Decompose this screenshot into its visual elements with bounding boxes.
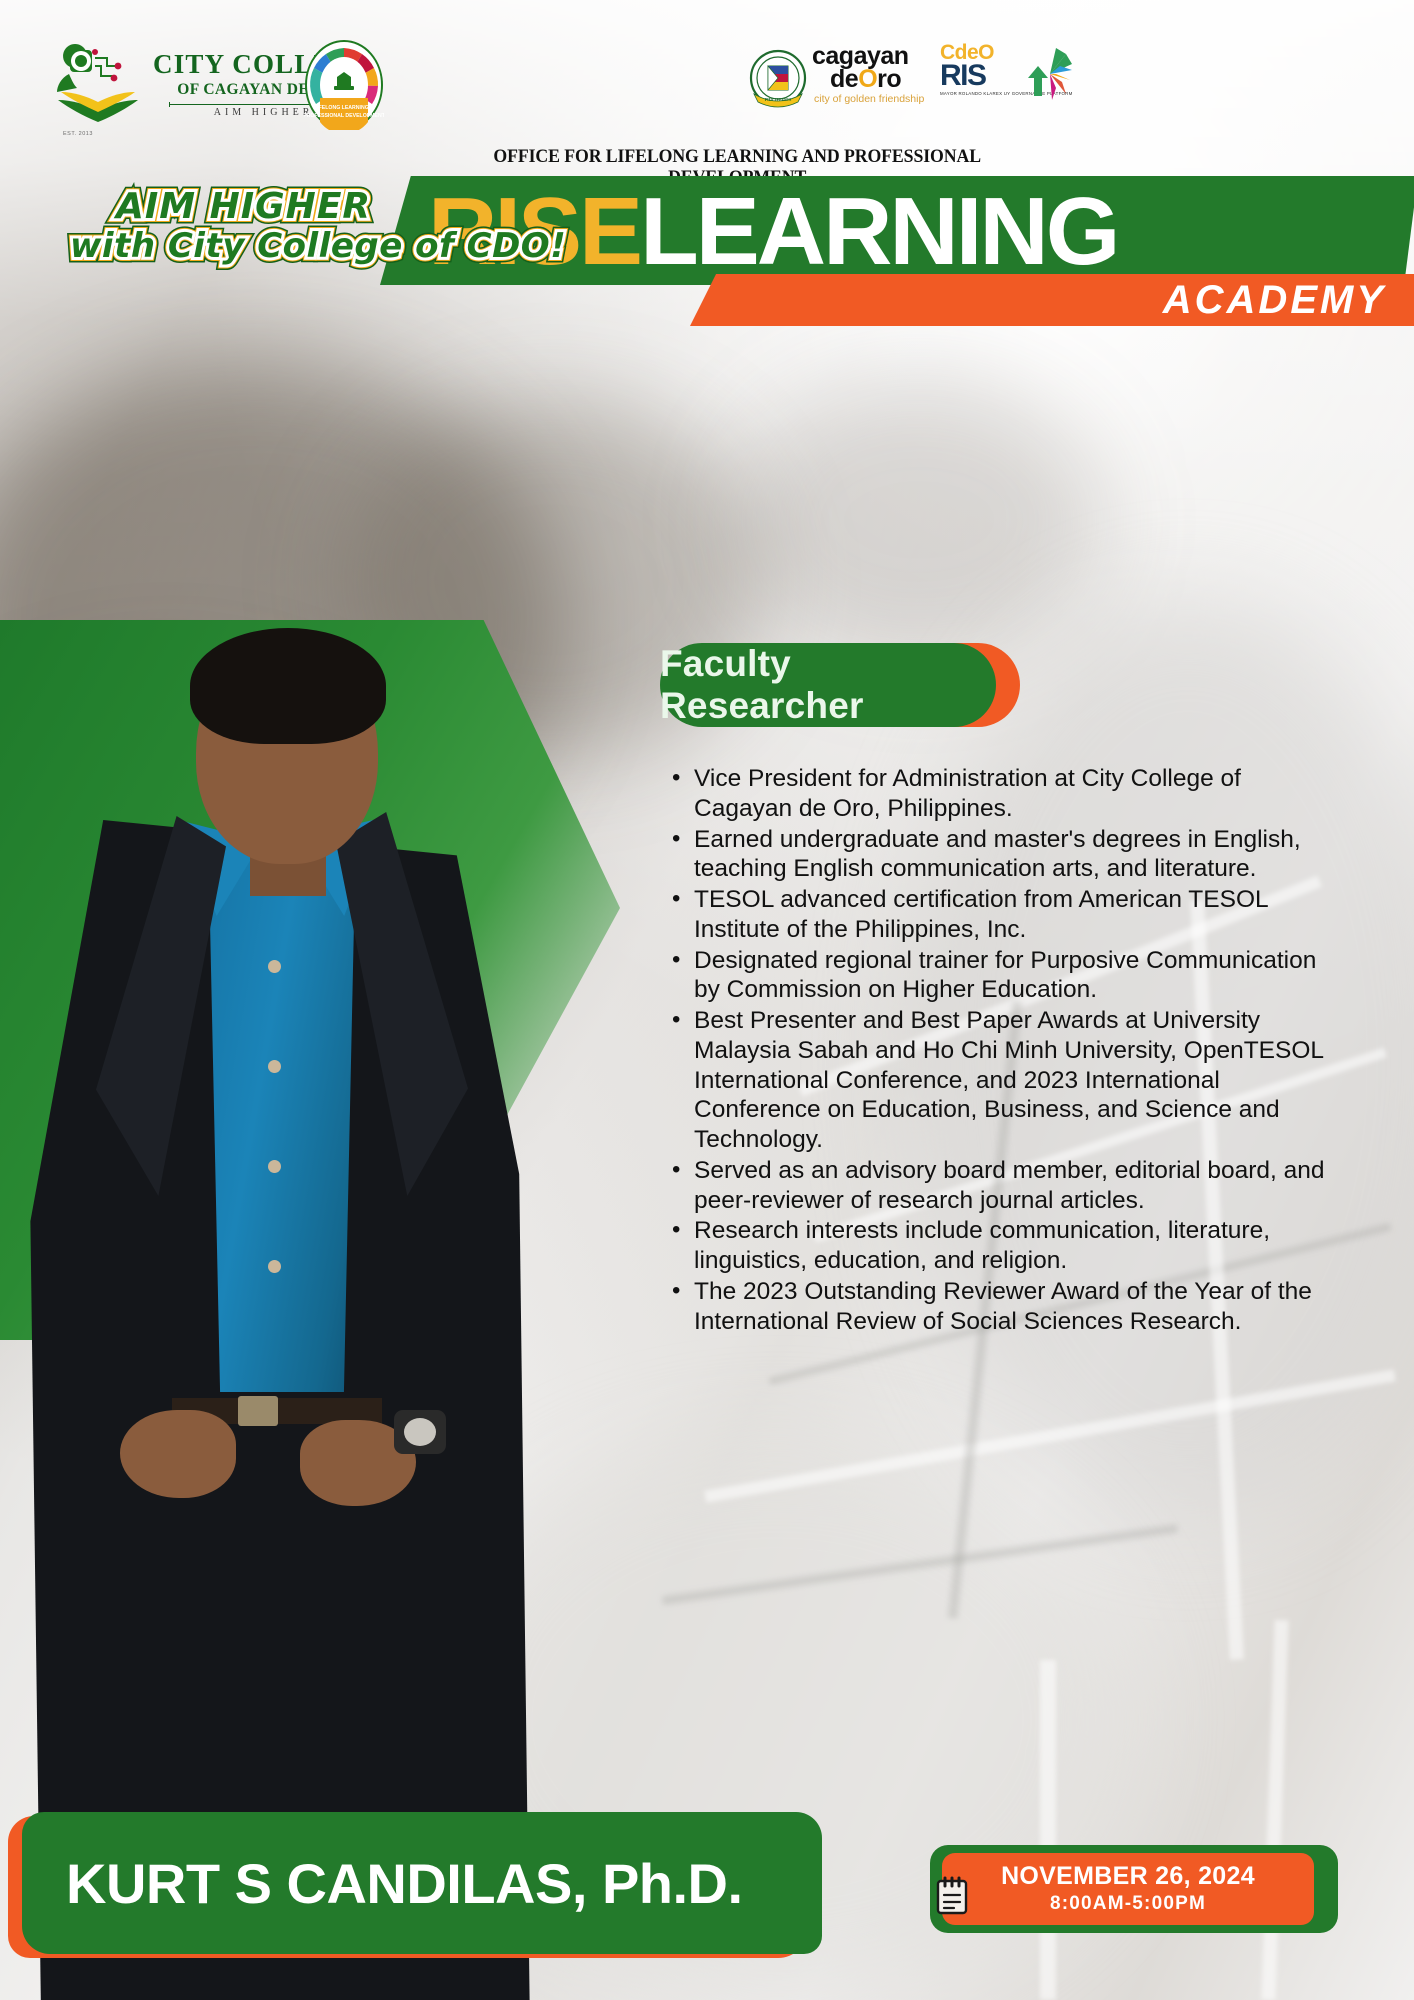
portrait-hand-left — [120, 1410, 236, 1498]
aim-higher-line1: AIM HIGHER — [116, 186, 371, 227]
list-item: Research interests include communication… — [664, 1216, 1336, 1276]
portrait-shirt — [196, 832, 368, 1392]
portrait-wristwatch — [394, 1410, 446, 1454]
portrait-shirt-button — [268, 1060, 281, 1073]
cdeo-ris-burst-icon — [1026, 44, 1074, 104]
name-plate-green-shape: KURT S CANDILAS, Ph.D. — [22, 1812, 822, 1954]
svg-text:PHILIPPINES: PHILIPPINES — [765, 97, 792, 102]
banner-subtitle-academy: ACADEMY — [820, 276, 1414, 324]
speaker-name: KURT S CANDILAS, Ph.D. — [22, 1851, 743, 1916]
speaker-portrait — [0, 620, 620, 2000]
list-item: Designated regional trainer for Purposiv… — [664, 946, 1336, 1006]
list-item: The 2023 Outstanding Reviewer Award of t… — [664, 1277, 1336, 1337]
speaker-name-plate: KURT S CANDILAS, Ph.D. — [8, 1812, 828, 1962]
portrait-shirt-button — [268, 1160, 281, 1173]
city-college-emblem-icon — [55, 44, 141, 126]
portrait-shirt-button — [268, 960, 281, 973]
lifelong-learning-seal-icon: LIFELONG LEARNING & PROFESSIONAL DEVELOP… — [304, 40, 384, 130]
calendar-icon — [934, 1875, 970, 1917]
list-item: Vice President for Administration at Cit… — [664, 764, 1336, 824]
list-item: Best Presenter and Best Paper Awards at … — [664, 1006, 1336, 1155]
cdo-word-o: O — [858, 65, 877, 93]
portrait-hair — [190, 628, 386, 744]
city-college-tagline: AIM HIGHER — [214, 107, 314, 118]
cdo-word-ro: ro — [877, 65, 901, 93]
list-item: Served as an advisory board member, edit… — [664, 1156, 1336, 1216]
aim-higher-line2: with City College of CDO! — [70, 226, 566, 266]
cdo-word-de: de — [830, 65, 858, 93]
cagayan-de-oro-city-seal-icon: PHILIPPINES — [746, 48, 810, 112]
list-item: TESOL advanced certification from Americ… — [664, 885, 1336, 945]
svg-text:LIFELONG LEARNING &: LIFELONG LEARNING & — [314, 105, 374, 111]
speaker-bio: Vice President for Administration at Cit… — [664, 764, 1336, 1338]
cagayan-de-oro-wordmark: cagayan deOro city of golden friendship — [812, 45, 930, 107]
banner-title-learning: LEARNING — [640, 178, 1117, 285]
event-date-badge: NOVEMBER 26, 2024 8:00AM-5:00PM — [930, 1845, 1338, 1933]
portrait-belt-buckle — [238, 1396, 278, 1426]
bio-list: Vice President for Administration at Cit… — [664, 764, 1336, 1337]
role-badge: Faculty Researcher — [660, 643, 1020, 727]
cdo-word-tagline: city of golden friendship — [812, 93, 930, 105]
aim-higher-sticker: AIM HIGHER with City College of CDO! AIM… — [44, 182, 384, 282]
event-time: 8:00AM-5:00PM — [1050, 1893, 1206, 1915]
logo-bar: CITY COLLEGE OF CAGAYAN DE ORO AIM HIGHE… — [0, 0, 1414, 140]
svg-text:PROFESSIONAL DEVELOPMENT: PROFESSIONAL DEVELOPMENT — [304, 113, 384, 119]
city-college-established: EST. 2013 — [63, 131, 93, 137]
role-badge-face: Faculty Researcher — [660, 643, 996, 727]
cdeo-ris-logo: CdeO RIS MAYOR ROLANDO KLAREX UY GOVERNA… — [940, 42, 1070, 114]
banner-green-shape-right — [1070, 176, 1414, 285]
cdo-word-line2: deOro — [812, 68, 930, 91]
role-badge-label: Faculty Researcher — [660, 643, 996, 727]
event-date: NOVEMBER 26, 2024 — [1001, 1863, 1255, 1891]
list-item: Earned undergraduate and master's degree… — [664, 825, 1336, 885]
portrait-shirt-button — [268, 1260, 281, 1273]
date-badge-orange-shape: NOVEMBER 26, 2024 8:00AM-5:00PM — [942, 1853, 1314, 1925]
